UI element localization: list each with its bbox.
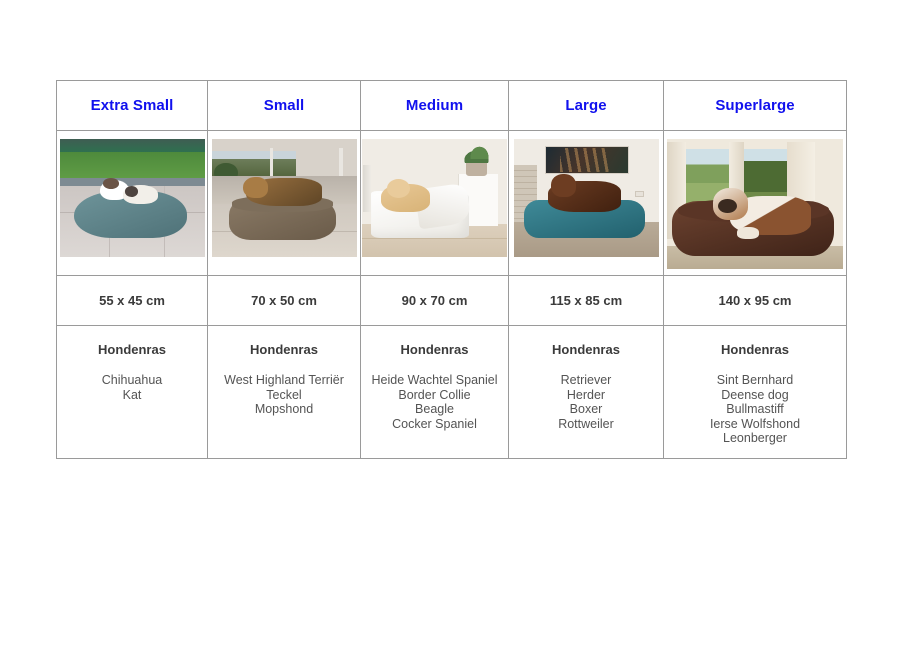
breed-title-small: Hondenras [208,342,360,357]
cell-breeds-extra-small: Hondenras Chihuahua Kat [57,326,208,459]
dimensions-medium: 90 x 70 cm [361,293,508,308]
breed-title-large: Hondenras [509,342,663,357]
list-item: Border Collie [361,388,508,403]
breed-list-small: West Highland Terriër Teckel Mopshond [208,373,360,417]
breed-title-superlarge: Hondenras [664,342,846,357]
list-item: Beagle [361,402,508,417]
list-item: Ierse Wolfshond [664,417,846,432]
list-item: Boxer [509,402,663,417]
list-item: Teckel [208,388,360,403]
photo-extra-small [60,139,205,257]
list-item: Mopshond [208,402,360,417]
cell-photo-medium [361,131,509,276]
cell-photo-extra-small [57,131,208,276]
size-label-small: Small [208,97,360,114]
list-item: Chihuahua [57,373,207,388]
table-row-breeds: Hondenras Chihuahua Kat Hondenras West H… [57,326,847,459]
photo-small [212,139,357,257]
cell-dimensions-medium: 90 x 70 cm [361,276,509,326]
cell-photo-superlarge [664,131,847,276]
photo-medium [362,139,507,257]
list-item: Herder [509,388,663,403]
cell-header-medium: Medium [361,81,509,131]
cell-breeds-medium: Hondenras Heide Wachtel Spaniel Border C… [361,326,509,459]
table-row-size-headers: Extra Small Small Medium Large Superlarg… [57,81,847,131]
size-label-superlarge: Superlarge [664,97,846,114]
cell-dimensions-extra-small: 55 x 45 cm [57,276,208,326]
dimensions-extra-small: 55 x 45 cm [57,293,207,308]
list-item: West Highland Terriër [208,373,360,388]
cell-header-large: Large [509,81,664,131]
dimensions-superlarge: 140 x 95 cm [664,293,846,308]
cell-breeds-large: Hondenras Retriever Herder Boxer Rottwei… [509,326,664,459]
cell-header-superlarge: Superlarge [664,81,847,131]
cell-breeds-small: Hondenras West Highland Terriër Teckel M… [208,326,361,459]
dimensions-large: 115 x 85 cm [509,293,663,308]
page-canvas: Extra Small Small Medium Large Superlarg… [0,0,900,660]
breed-title-medium: Hondenras [361,342,508,357]
photo-large [514,139,659,257]
cell-dimensions-large: 115 x 85 cm [509,276,664,326]
cell-photo-small [208,131,361,276]
table-row-photos [57,131,847,276]
size-label-large: Large [509,97,663,114]
list-item: Deense dog [664,388,846,403]
cell-photo-large [509,131,664,276]
list-item: Sint Bernhard [664,373,846,388]
table-row-dimensions: 55 x 45 cm 70 x 50 cm 90 x 70 cm 115 x 8… [57,276,847,326]
list-item: Bullmastiff [664,402,846,417]
breed-list-superlarge: Sint Bernhard Deense dog Bullmastiff Ier… [664,373,846,446]
list-item: Leonberger [664,431,846,446]
cell-header-extra-small: Extra Small [57,81,208,131]
breed-title-extra-small: Hondenras [57,342,207,357]
dog-bed-size-table: Extra Small Small Medium Large Superlarg… [56,80,847,459]
photo-superlarge [667,139,843,269]
list-item: Rottweiler [509,417,663,432]
cell-dimensions-superlarge: 140 x 95 cm [664,276,847,326]
dimensions-small: 70 x 50 cm [208,293,360,308]
size-label-extra-small: Extra Small [57,97,207,114]
breed-list-large: Retriever Herder Boxer Rottweiler [509,373,663,431]
cell-header-small: Small [208,81,361,131]
list-item: Cocker Spaniel [361,417,508,432]
list-item: Kat [57,388,207,403]
breed-list-extra-small: Chihuahua Kat [57,373,207,402]
cell-dimensions-small: 70 x 50 cm [208,276,361,326]
list-item: Retriever [509,373,663,388]
breed-list-medium: Heide Wachtel Spaniel Border Collie Beag… [361,373,508,431]
cell-breeds-superlarge: Hondenras Sint Bernhard Deense dog Bullm… [664,326,847,459]
size-label-medium: Medium [361,97,508,114]
list-item: Heide Wachtel Spaniel [361,373,508,388]
